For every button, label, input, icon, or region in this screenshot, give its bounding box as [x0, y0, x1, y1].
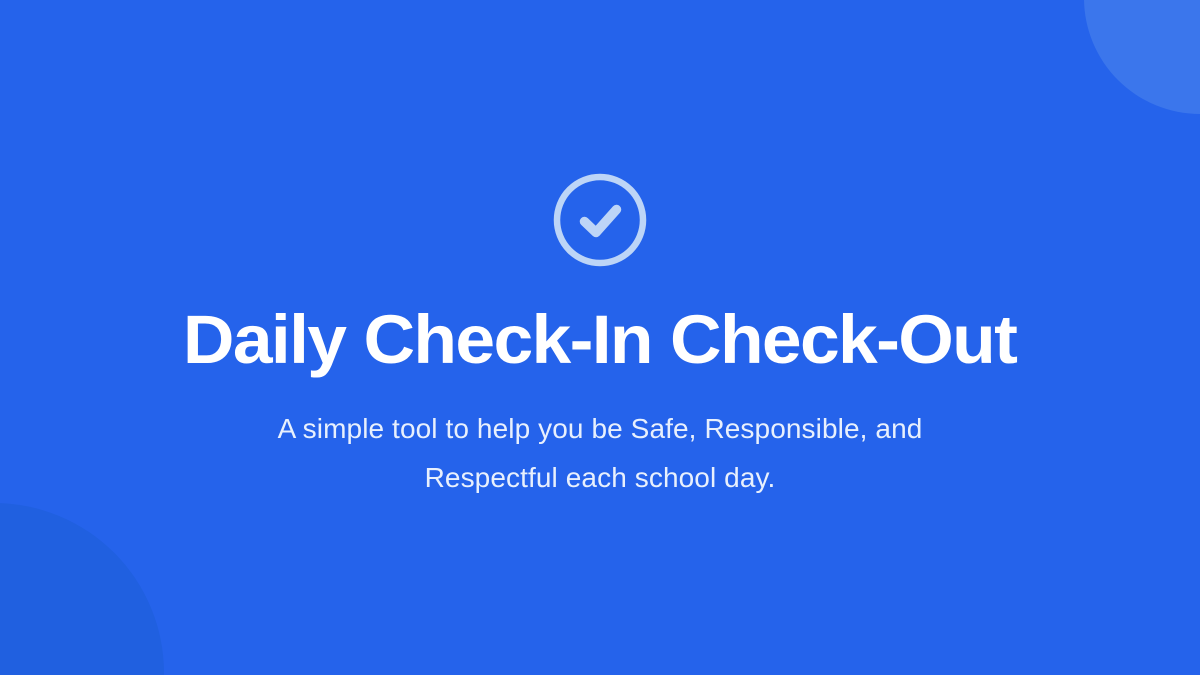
- page-subtitle: A simple tool to help you be Safe, Respo…: [220, 404, 980, 502]
- title-slide: Daily Check-In Check-Out A simple tool t…: [0, 0, 1200, 675]
- check-circle-icon: [553, 173, 647, 267]
- page-title: Daily Check-In Check-Out: [183, 305, 1016, 375]
- hero-content: Daily Check-In Check-Out A simple tool t…: [0, 0, 1200, 675]
